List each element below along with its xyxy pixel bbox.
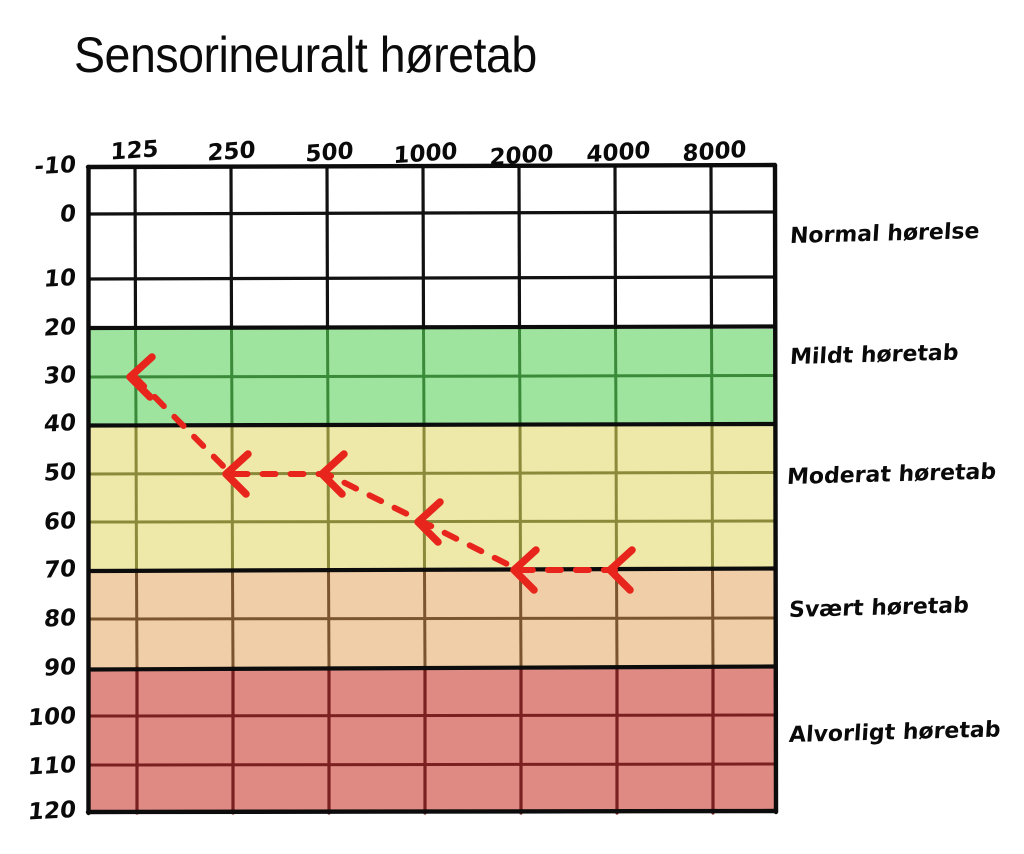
db-tick-20: 20 xyxy=(7,314,77,344)
db-tick-50: 50 xyxy=(7,459,77,489)
db-tick-90: 90 xyxy=(7,654,77,684)
freq-tick-250: 250 xyxy=(207,137,256,166)
freq-tick-500: 500 xyxy=(305,138,354,167)
db-tick-40: 40 xyxy=(7,410,77,440)
freq-tick-4000: 4000 xyxy=(586,138,651,169)
db-tick-110: 110 xyxy=(7,752,77,782)
db-tick-10: 10 xyxy=(7,265,77,295)
db-tick-120: 120 xyxy=(7,797,77,827)
freq-tick-1000: 1000 xyxy=(393,139,458,170)
db-tick-30: 30 xyxy=(7,362,77,392)
band-normal xyxy=(88,166,775,329)
band-moderate xyxy=(88,425,775,570)
db-tick-100: 100 xyxy=(7,703,77,733)
band-label-mild: Mildt høretab xyxy=(789,341,959,370)
freq-tick-125: 125 xyxy=(110,136,159,165)
db-tick-80: 80 xyxy=(7,605,77,635)
band-profound xyxy=(88,668,775,813)
db-tick-60: 60 xyxy=(7,508,77,538)
db-tick-70: 70 xyxy=(7,556,77,586)
freq-tick-8000: 8000 xyxy=(682,137,747,168)
band-label-severe: Svært høretab xyxy=(788,593,969,623)
db-tick-minus10: -10 xyxy=(7,152,77,182)
freq-tick-2000: 2000 xyxy=(489,141,554,172)
db-tick-0: 0 xyxy=(7,201,77,231)
band-label-normal: Normal hørelse xyxy=(789,219,980,249)
